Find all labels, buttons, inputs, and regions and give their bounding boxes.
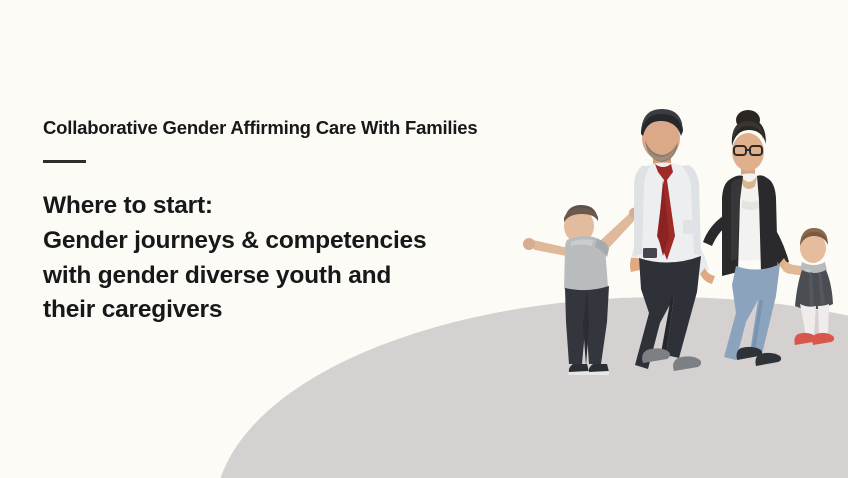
figure-adult-center xyxy=(630,109,715,371)
title-divider-rule xyxy=(43,160,86,163)
figure-child-right xyxy=(783,228,834,345)
presentation-slide: Collaborative Gender Affirming Care With… xyxy=(0,0,848,478)
family-illustration xyxy=(505,100,848,375)
figure-adult-right xyxy=(703,110,793,366)
figure-child-left xyxy=(523,205,641,375)
